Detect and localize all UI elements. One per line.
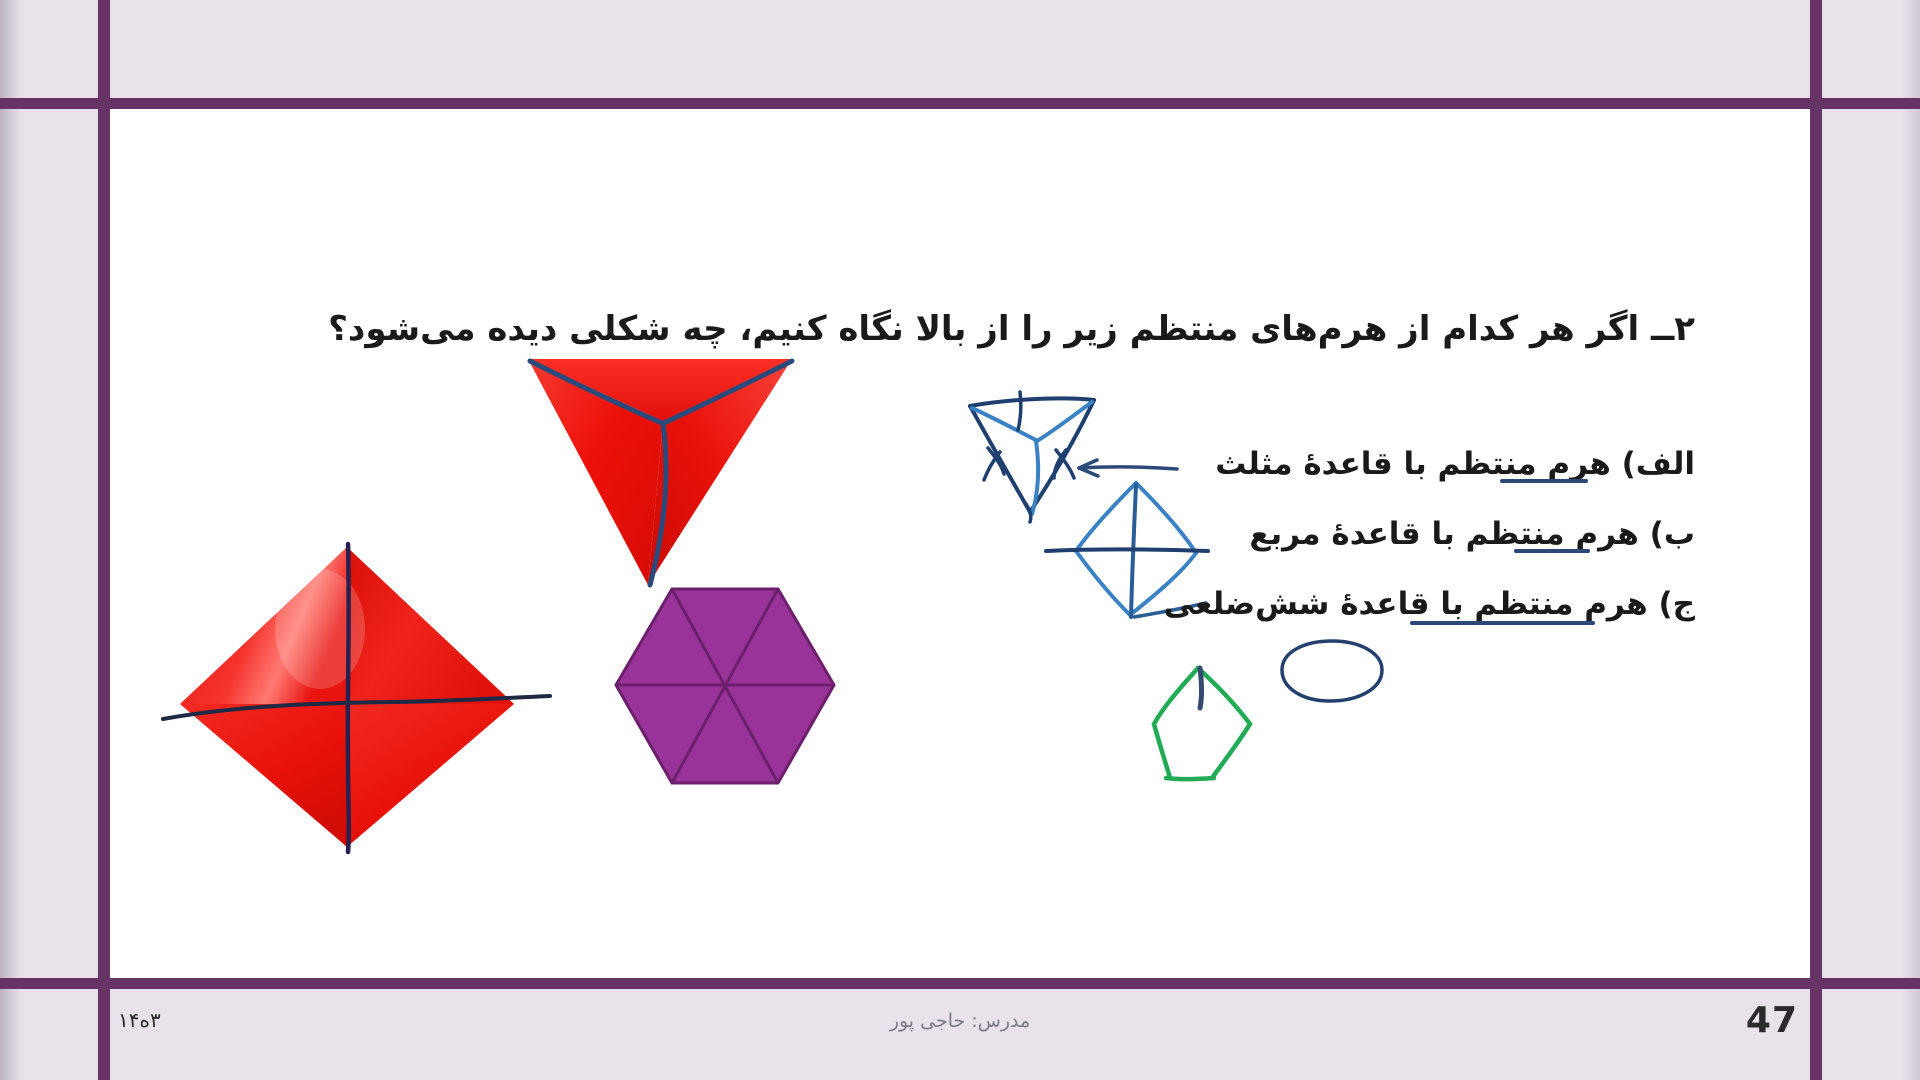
option-label-jim: ج) هرم منتظم با قاعدهٔ شش‌ضلعی [1164, 586, 1695, 622]
option-row-alef[interactable]: الف) هرم منتظم با قاعدهٔ مثلث [1135, 429, 1695, 499]
right-page-edge-shadow [1902, 0, 1920, 1080]
frame-line-horizontal-top [0, 98, 1920, 109]
red-triangular-pyramid [520, 349, 800, 599]
option-underline-be [1514, 549, 1590, 553]
frame-line-vertical-right [1810, 0, 1822, 1080]
option-underline-alef [1500, 479, 1588, 483]
annotation-circle-montazam [1278, 637, 1388, 705]
left-page-edge-shadow [0, 0, 22, 1080]
slide-content-area: ۲ــ اگر هر کدام از هرم‌های منتظم زیر را … [110, 109, 1810, 978]
option-label-be: ب) هرم منتظم با قاعدهٔ مربع [1249, 516, 1695, 552]
options-list: الف) هرم منتظم با قاعدهٔ مثلث ب) هرم منت… [1135, 429, 1695, 639]
frame-line-vertical-left [98, 0, 110, 1080]
red-square-pyramid [170, 529, 530, 859]
purple-hexagon [610, 584, 840, 789]
option-label-alef: الف) هرم منتظم با قاعدهٔ مثلث [1215, 446, 1695, 482]
frame-line-horizontal-bottom [0, 978, 1920, 989]
green-pentagon-sketch [1150, 654, 1270, 794]
triangular-pyramid-axis-annotation [520, 349, 810, 609]
page-number: 47 [1746, 1000, 1798, 1041]
square-pyramid-axis-annotation [155, 524, 555, 864]
option-row-jim[interactable]: ج) هرم منتظم با قاعدهٔ شش‌ضلعی [1135, 569, 1695, 639]
option-row-be[interactable]: ب) هرم منتظم با قاعدهٔ مربع [1135, 499, 1695, 569]
footer-instructor: مدرس: حاجی پور [0, 1010, 1920, 1032]
option-underline-jim [1410, 621, 1595, 625]
